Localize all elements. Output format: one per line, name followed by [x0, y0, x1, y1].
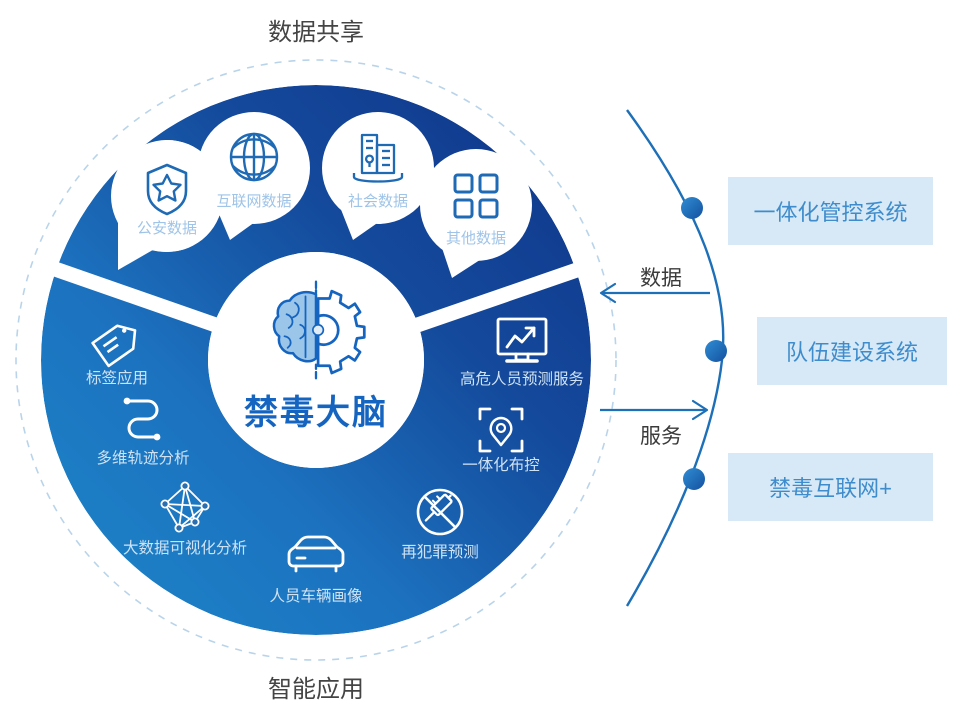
flow-arrow-service: 服务: [600, 401, 707, 448]
ring-item-label: 再犯罪预测: [401, 543, 479, 561]
system-box-integrated-management[interactable]: 一体化管控系统: [728, 177, 933, 245]
ring-item-label: 高危人员预测服务: [460, 370, 584, 388]
flow-arrow-data: 数据: [601, 267, 710, 302]
ring-item-label: 大数据可视化分析: [123, 539, 247, 557]
system-box-label: 一体化管控系统: [753, 195, 907, 227]
data-pin-label: 公安数据: [137, 220, 197, 237]
ring-item-label: 一体化布控: [462, 456, 540, 474]
label-top: 数据共享: [268, 19, 364, 46]
system-box-antidrug-internet-plus[interactable]: 禁毒互联网+: [728, 453, 933, 521]
diagram-canvas: 数据共享 智能应用: [0, 0, 977, 719]
label-bottom: 智能应用: [268, 676, 364, 703]
ring-item-label: 多维轨迹分析: [96, 449, 189, 467]
data-pin-label: 社会数据: [348, 193, 408, 210]
system-box-team-building[interactable]: 队伍建设系统: [757, 317, 947, 385]
arc-dot[interactable]: [681, 197, 703, 219]
arc-dot[interactable]: [683, 468, 705, 490]
data-pin-label: 互联网数据: [216, 193, 291, 210]
ring-item-label: 人员车辆画像: [269, 587, 363, 605]
flow-label: 服务: [640, 425, 682, 448]
arc-dot[interactable]: [705, 340, 727, 362]
flow-label: 数据: [640, 267, 682, 290]
globe-icon: [231, 134, 277, 180]
ring-item-label: 标签应用: [86, 368, 148, 387]
system-box-label: 队伍建设系统: [786, 335, 918, 367]
system-box-label: 禁毒互联网+: [769, 471, 892, 503]
data-pin-label: 其他数据: [446, 230, 506, 247]
center-label: 禁毒大脑: [244, 394, 388, 432]
